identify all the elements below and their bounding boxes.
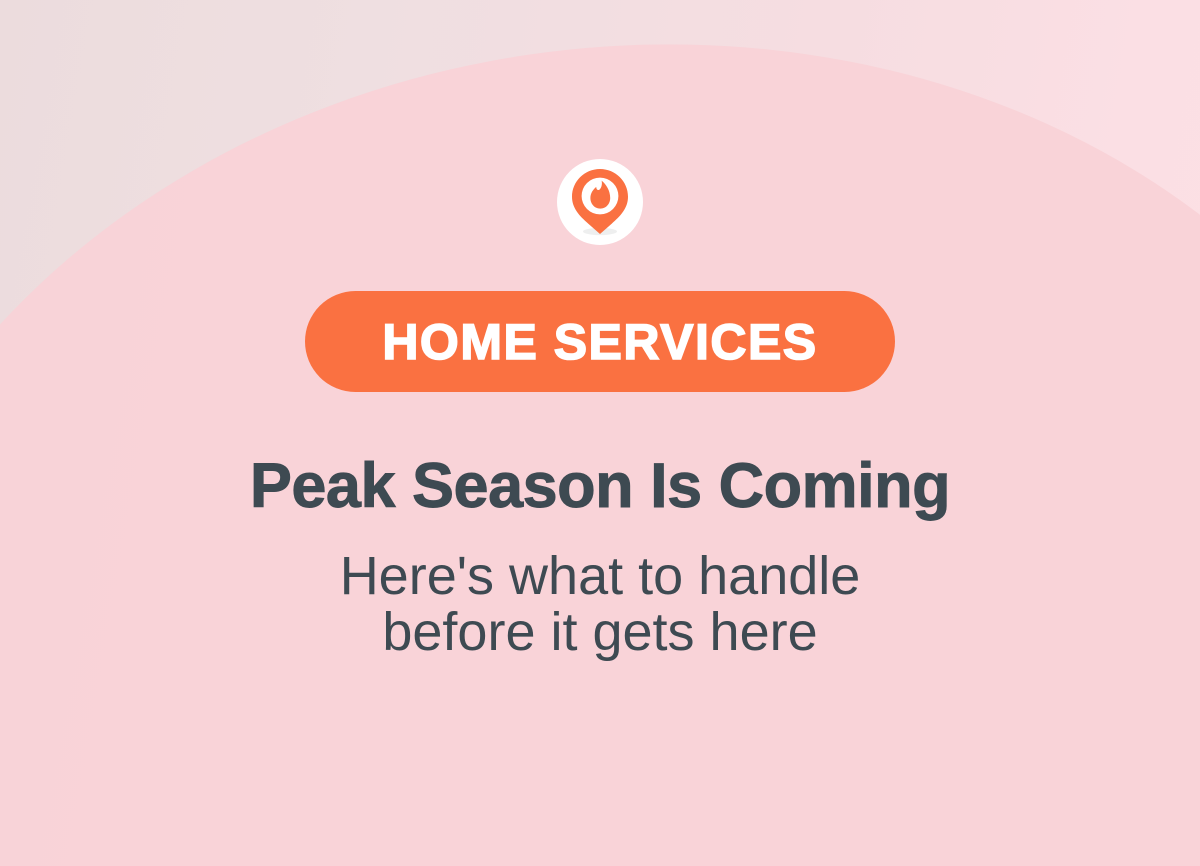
promo-card: HOME SERVICES Peak Season Is Coming Here… xyxy=(0,0,1200,866)
home-services-pill-label: HOME SERVICES xyxy=(382,317,817,367)
subtitle-line-1: Here's what to handle xyxy=(0,548,1200,604)
subtitle-line-2: before it gets here xyxy=(0,604,1200,660)
home-services-pill-button[interactable]: HOME SERVICES xyxy=(305,291,895,392)
brand-logo-badge xyxy=(557,159,643,245)
card-content: HOME SERVICES Peak Season Is Coming Here… xyxy=(0,0,1200,866)
subtitle: Here's what to handle before it gets her… xyxy=(0,548,1200,660)
map-pin-flame-logo-icon xyxy=(568,167,632,237)
page-title: Peak Season Is Coming xyxy=(0,452,1200,521)
